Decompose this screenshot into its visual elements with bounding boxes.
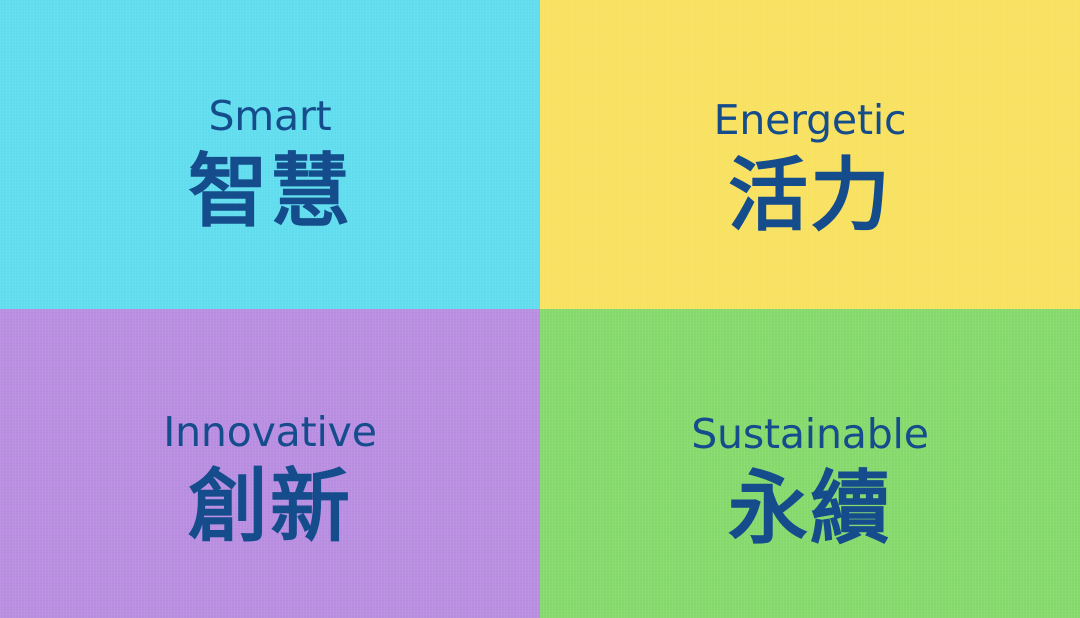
card-content-innovative: Innovative 創新: [0, 309, 540, 548]
value-card-energetic[interactable]: Energetic 活力: [540, 0, 1080, 309]
card-content-energetic: Energetic 活力: [540, 0, 1080, 237]
value-label-zh-innovative: 創新: [188, 466, 352, 548]
brand-values-grid: Smart 智慧 Energetic 活力 Innovative 創新 Sust…: [0, 0, 1080, 618]
card-content-sustainable: Sustainable 永續: [540, 309, 1080, 550]
value-label-en-smart: Smart: [208, 96, 331, 137]
card-content-smart: Smart 智慧: [0, 0, 540, 233]
value-label-zh-smart: 智慧: [188, 151, 352, 233]
value-label-zh-sustainable: 永續: [728, 468, 892, 550]
value-label-en-innovative: Innovative: [163, 412, 377, 453]
value-card-smart[interactable]: Smart 智慧: [0, 0, 540, 309]
value-card-innovative[interactable]: Innovative 創新: [0, 309, 540, 618]
value-card-sustainable[interactable]: Sustainable 永續: [540, 309, 1080, 618]
value-label-en-energetic: Energetic: [714, 100, 907, 141]
value-label-en-sustainable: Sustainable: [691, 414, 929, 455]
value-label-zh-energetic: 活力: [728, 155, 892, 237]
